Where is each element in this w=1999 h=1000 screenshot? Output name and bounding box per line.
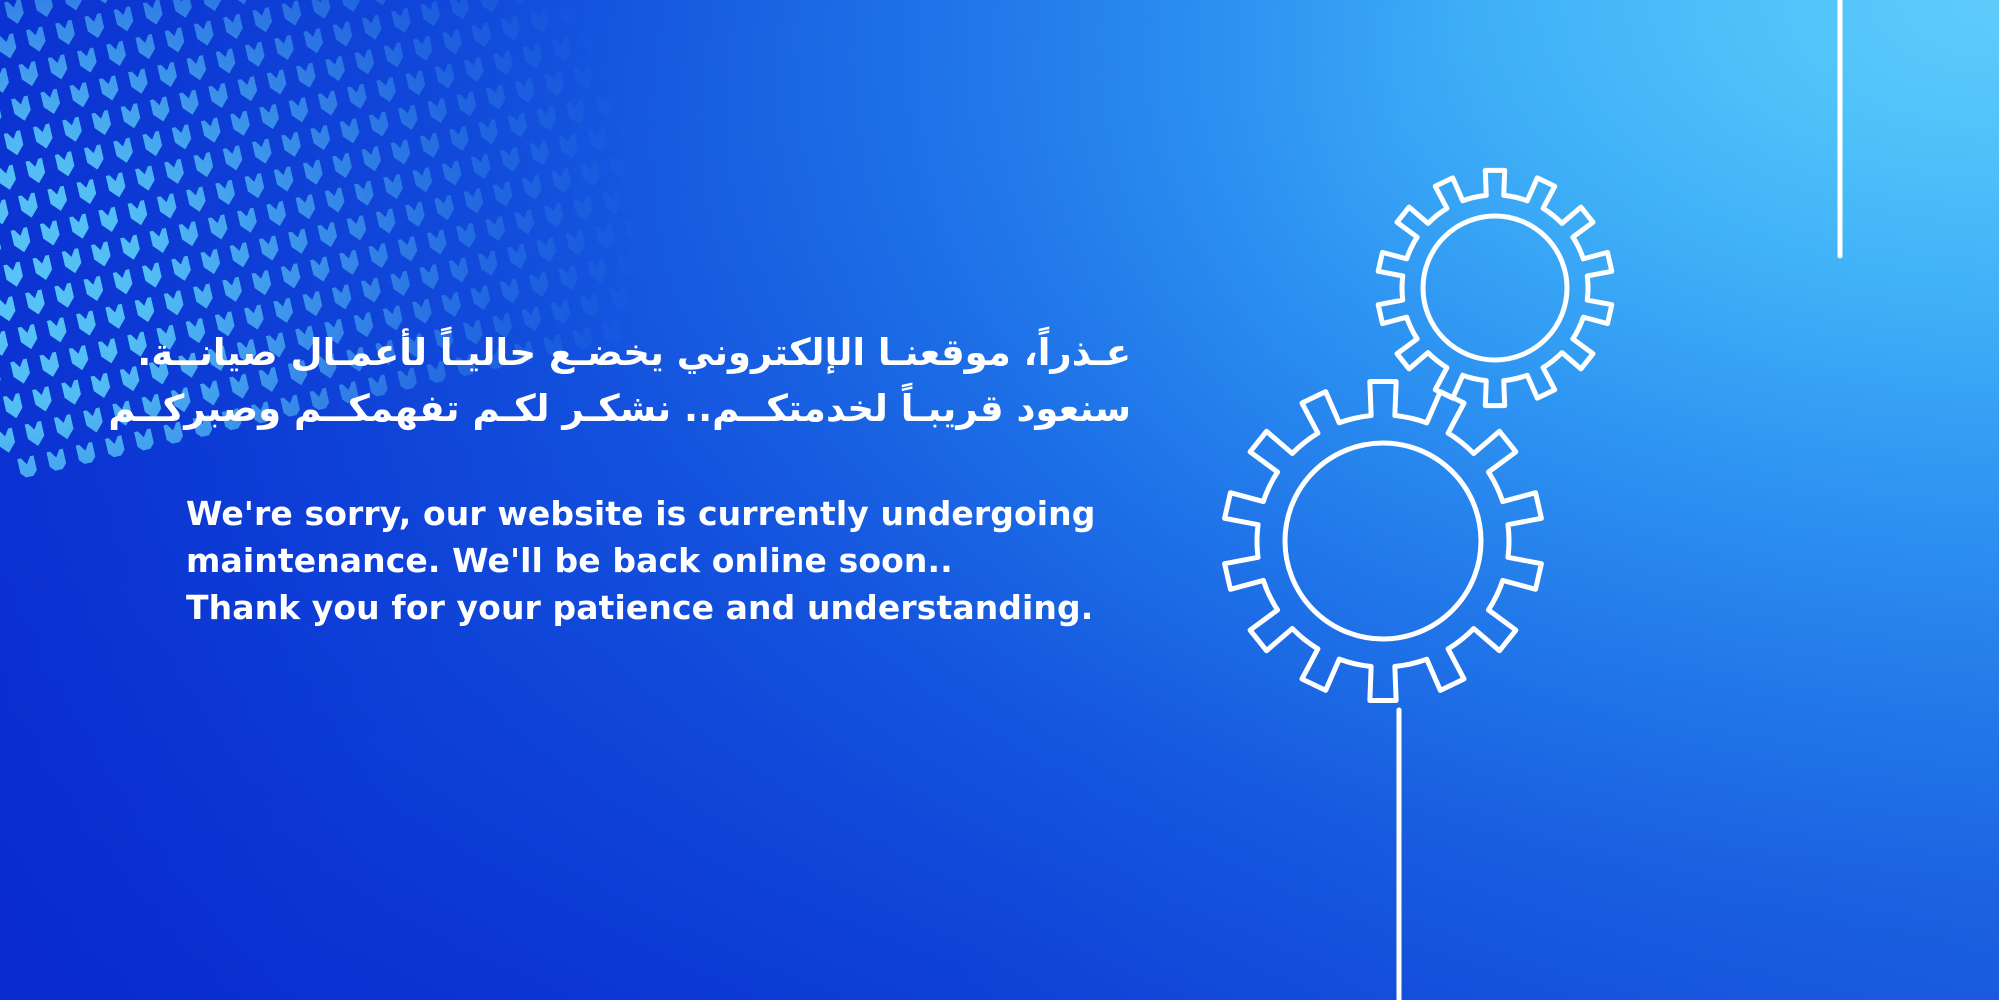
chevron-down-icon (92, 0, 114, 5)
chevron-down-icon (11, 95, 33, 122)
chevron-down-icon (419, 264, 441, 291)
chevron-down-icon (587, 258, 609, 285)
chevron-down-icon (551, 168, 573, 195)
chevron-down-icon (259, 104, 281, 131)
chevron-down-icon (537, 105, 559, 132)
chevron-down-icon (544, 202, 566, 229)
chevron-down-icon (193, 283, 215, 310)
chevron-down-icon (24, 421, 46, 448)
chevron-down-icon (17, 324, 39, 351)
chevron-down-icon (397, 236, 419, 263)
chevron-down-icon (252, 7, 274, 34)
chevron-down-icon (208, 214, 230, 241)
chevron-down-icon (84, 144, 106, 171)
chevron-down-icon (106, 172, 128, 199)
chevron-down-icon (54, 414, 76, 441)
chevron-down-icon (142, 262, 164, 289)
chevron-down-icon (624, 217, 646, 244)
chevron-down-icon (135, 165, 157, 192)
chevron-down-icon (354, 180, 376, 207)
chevron-down-icon (369, 0, 391, 7)
chevron-down-icon (552, 36, 574, 63)
chevron-down-icon (273, 298, 295, 325)
chevron-down-icon (682, 203, 704, 230)
english-message: We're sorry, our website is currently un… (186, 491, 1186, 632)
chevron-down-icon (639, 148, 661, 175)
chevron-down-icon (105, 304, 127, 331)
chevron-down-icon (222, 277, 244, 304)
chevron-down-icon (668, 141, 690, 168)
chevron-down-icon (288, 229, 310, 256)
chevron-down-icon (201, 117, 223, 144)
chevron-down-icon (252, 138, 274, 165)
chevron-down-icon (646, 113, 668, 140)
chevron-down-icon (478, 250, 500, 277)
chevron-down-icon (18, 192, 40, 219)
chevron-down-icon (62, 116, 84, 143)
chevron-down-icon (573, 64, 595, 91)
chevron-down-icon (530, 9, 552, 36)
chevron-down-icon (142, 131, 164, 158)
chevron-down-icon (201, 0, 223, 13)
chevron-down-icon (332, 21, 354, 48)
chevron-down-icon (339, 250, 361, 277)
chevron-down-icon (500, 278, 522, 305)
chevron-down-icon (230, 111, 252, 138)
chevron-down-icon (0, 199, 11, 226)
chevron-down-icon (77, 47, 99, 74)
chevron-down-icon (405, 202, 427, 229)
chevron-down-icon (573, 196, 595, 223)
chevron-down-icon (83, 276, 105, 303)
chevron-down-icon (267, 69, 289, 96)
chevron-down-icon (164, 159, 186, 186)
chevron-down-icon (295, 194, 317, 221)
chevron-down-icon (595, 92, 617, 119)
chevron-down-icon (690, 169, 712, 196)
chevron-down-icon (449, 257, 471, 284)
chevron-down-icon (536, 237, 558, 264)
chevron-down-icon (508, 0, 530, 8)
chevron-down-icon (581, 30, 603, 57)
chevron-down-icon (3, 261, 25, 288)
chevron-down-icon (91, 241, 113, 268)
chevron-down-icon (54, 283, 76, 310)
chevron-down-icon (617, 251, 639, 278)
chevron-down-icon (55, 20, 77, 47)
chevron-down-icon (646, 244, 668, 271)
chevron-down-icon (427, 229, 449, 256)
chevron-down-icon (223, 145, 245, 172)
maintenance-page: عـذراً، موقعنـا الإلكتروني يخضـع حاليـاً… (0, 0, 1999, 1000)
chevron-down-icon (486, 84, 508, 111)
chevron-down-icon (638, 279, 660, 306)
chevron-down-icon (507, 112, 529, 139)
chevron-down-icon (340, 0, 362, 14)
chevron-down-icon (4, 130, 26, 157)
arabic-line-1: عـذراً، موقعنـا الإلكتروني يخضـع حاليـاً… (186, 325, 1131, 381)
chevron-down-icon (609, 286, 631, 313)
chevron-down-icon (391, 139, 413, 166)
chevron-down-icon (62, 0, 84, 12)
chevron-down-icon (0, 234, 3, 261)
chevron-down-icon (4, 0, 26, 26)
chevron-down-icon (274, 35, 296, 62)
chevron-down-icon (288, 97, 310, 124)
chevron-down-icon (310, 256, 332, 283)
chevron-down-icon (654, 78, 676, 105)
chevron-down-icon (412, 167, 434, 194)
chevron-down-icon (449, 126, 471, 153)
chevron-down-icon (376, 208, 398, 235)
chevron-down-icon (76, 179, 98, 206)
chevron-down-icon (91, 110, 113, 137)
chevron-down-icon (61, 379, 83, 406)
chevron-down-icon (434, 195, 456, 222)
chevron-down-icon (420, 1, 442, 28)
chevron-down-icon (0, 165, 18, 192)
chevron-down-icon (143, 0, 165, 27)
chevron-down-icon (697, 266, 719, 293)
chevron-down-icon (704, 231, 726, 258)
chevron-down-icon (193, 152, 215, 179)
chevron-down-icon (194, 20, 216, 47)
arabic-line-2: سنعود قريبـاً لخدمتكــم.. نشكـر لكـم تفه… (186, 381, 1131, 437)
chevron-down-icon (463, 188, 485, 215)
chevron-down-icon (106, 41, 128, 68)
chevron-down-icon (435, 63, 457, 90)
chevron-down-icon (376, 77, 398, 104)
chevron-down-icon (98, 207, 120, 234)
chevron-down-icon (259, 235, 281, 262)
chevron-down-icon (610, 23, 632, 50)
chevron-down-icon (610, 154, 632, 181)
chevron-down-icon (442, 160, 464, 187)
chevron-down-icon (18, 61, 40, 88)
chevron-down-icon (127, 200, 149, 227)
chevron-down-icon (120, 103, 142, 130)
english-line-3: Thank you for your patience and understa… (186, 585, 1186, 632)
chevron-down-icon (128, 68, 150, 95)
chevron-down-icon (471, 153, 493, 180)
chevron-down-icon (493, 181, 515, 208)
chevron-down-icon (62, 248, 84, 275)
chevron-down-icon (412, 298, 434, 325)
chevron-down-icon (653, 210, 675, 237)
chevron-down-icon (150, 96, 172, 123)
chevron-down-icon (566, 99, 588, 126)
chevron-down-icon (3, 393, 25, 420)
chevron-down-icon (588, 0, 610, 22)
chevron-down-icon (0, 365, 3, 392)
chevron-down-icon (514, 209, 536, 236)
chevron-down-icon (346, 215, 368, 242)
chevron-down-icon (215, 180, 237, 207)
chevron-down-icon (464, 57, 486, 84)
chevron-down-icon (25, 289, 47, 316)
chevron-down-icon (32, 386, 54, 413)
chevron-down-icon (478, 119, 500, 146)
chevron-down-icon (302, 291, 324, 318)
chevron-down-icon (165, 27, 187, 54)
chevron-down-icon (588, 126, 610, 153)
chevron-down-icon (310, 125, 332, 152)
chevron-down-icon (405, 70, 427, 97)
chevron-down-icon (632, 51, 654, 78)
chevron-down-icon (500, 15, 522, 42)
english-line-2: maintenance. We'll be back online soon.. (186, 538, 1186, 585)
chevron-down-icon (369, 111, 391, 138)
chevron-down-icon (0, 427, 17, 454)
chevron-down-icon (281, 0, 303, 27)
chevron-down-icon (544, 71, 566, 98)
chevron-down-icon (39, 352, 61, 379)
chevron-down-icon (83, 407, 105, 434)
chevron-down-icon (0, 68, 11, 95)
chevron-down-icon (223, 14, 245, 41)
chevron-down-icon (245, 41, 267, 68)
chevron-down-icon (113, 6, 135, 33)
chevron-down-icon (200, 249, 222, 276)
chevron-down-icon (230, 242, 252, 269)
chevron-down-icon (362, 14, 384, 41)
chevron-down-icon (311, 0, 333, 21)
english-line-1: We're sorry, our website is currently un… (186, 491, 1186, 538)
chevron-down-icon (230, 0, 252, 6)
chevron-down-icon (390, 271, 412, 298)
chevron-down-icon (149, 228, 171, 255)
chevron-down-icon (661, 44, 683, 71)
chevron-down-icon (98, 338, 120, 365)
chevron-down-icon (208, 83, 230, 110)
arabic-message: عـذراً، موقعنـا الإلكتروني يخضـع حاليـاً… (186, 325, 1131, 437)
chevron-down-icon (47, 186, 69, 213)
maintenance-message: عـذراً، موقعنـا الإلكتروني يخضـع حاليـاً… (186, 325, 1186, 632)
chevron-down-icon (515, 78, 537, 105)
chevron-down-icon (420, 132, 442, 159)
chevron-down-icon (522, 175, 544, 202)
chevron-down-icon (471, 22, 493, 49)
chevron-down-icon (172, 0, 194, 20)
chevron-down-icon (69, 213, 91, 240)
chevron-down-icon (580, 161, 602, 188)
chevron-down-icon (522, 43, 544, 70)
chevron-down-icon (565, 230, 587, 257)
chevron-down-icon (237, 207, 259, 234)
chevron-down-icon (493, 50, 515, 77)
chevron-down-icon (244, 173, 266, 200)
chevron-down-icon (647, 0, 669, 9)
chevron-down-icon (25, 158, 47, 185)
chevron-down-icon (383, 174, 405, 201)
chevron-down-icon (361, 146, 383, 173)
chevron-down-icon (157, 62, 179, 89)
chevron-down-icon (427, 98, 449, 125)
chevron-down-icon (529, 140, 551, 167)
chevron-down-icon (157, 193, 179, 220)
chevron-down-icon (237, 76, 259, 103)
chevron-down-icon (456, 223, 478, 250)
chevron-down-icon (675, 238, 697, 265)
chevron-down-icon (442, 29, 464, 56)
chevron-down-icon (296, 63, 318, 90)
chevron-down-icon (281, 263, 303, 290)
chevron-down-icon (361, 277, 383, 304)
chevron-down-icon (325, 187, 347, 214)
chevron-down-icon (216, 48, 238, 75)
chevron-down-icon (113, 269, 135, 296)
chevron-down-icon (332, 284, 354, 311)
chevron-down-icon (413, 36, 435, 63)
chevron-down-icon (47, 317, 69, 344)
chevron-down-icon (485, 216, 507, 243)
chevron-down-icon (135, 34, 157, 61)
chevron-down-icon (558, 133, 580, 160)
chevron-down-icon (0, 33, 19, 60)
chevron-down-icon (317, 222, 339, 249)
chevron-down-icon (602, 189, 624, 216)
chevron-down-icon (10, 358, 32, 385)
chevron-down-icon (26, 26, 48, 53)
chevron-down-icon (384, 42, 406, 69)
chevron-down-icon (617, 0, 639, 15)
chevron-down-icon (179, 89, 201, 116)
chevron-down-icon (186, 186, 208, 213)
chevron-down-icon (580, 293, 602, 320)
chevron-down-icon (178, 221, 200, 248)
chevron-down-icon (479, 0, 501, 15)
chevron-down-icon (11, 227, 33, 254)
chevron-down-icon (186, 55, 208, 82)
chevron-down-icon (449, 0, 471, 21)
chevron-down-icon (500, 147, 522, 174)
chevron-down-icon (84, 13, 106, 40)
chevron-down-icon (595, 223, 617, 250)
chevron-down-icon (171, 256, 193, 283)
chevron-down-icon (69, 345, 91, 372)
chevron-down-icon (99, 75, 121, 102)
chevron-down-icon (0, 331, 10, 358)
chevron-down-icon (251, 270, 273, 297)
chevron-down-icon (69, 82, 91, 109)
chevron-down-icon (0, 102, 4, 129)
chevron-down-icon (558, 265, 580, 292)
chevron-down-icon (675, 106, 697, 133)
chevron-down-icon (55, 151, 77, 178)
chevron-down-icon (40, 89, 62, 116)
chevron-down-icon (559, 2, 581, 29)
chevron-down-icon (631, 182, 653, 209)
chevron-down-icon (134, 297, 156, 324)
chevron-down-icon (172, 124, 194, 151)
chevron-down-icon (33, 0, 55, 19)
chevron-down-icon (164, 290, 186, 317)
chevron-down-icon (529, 271, 551, 298)
chevron-down-icon (120, 234, 142, 261)
chevron-down-icon (441, 292, 463, 319)
chevron-down-icon (33, 123, 55, 150)
chevron-down-icon (32, 255, 54, 282)
chevron-down-icon (624, 85, 646, 112)
chevron-down-icon (456, 91, 478, 118)
chevron-down-icon (48, 54, 70, 81)
chevron-down-icon (303, 28, 325, 55)
chevron-down-icon (617, 120, 639, 147)
chevron-down-icon (113, 138, 135, 165)
chevron-down-icon (551, 299, 573, 326)
chevron-down-icon (537, 0, 559, 1)
chevron-down-icon (76, 310, 98, 337)
chevron-down-icon (668, 272, 690, 299)
chevron-down-icon (639, 16, 661, 43)
chevron-down-icon (325, 56, 347, 83)
chevron-down-icon (303, 159, 325, 186)
chevron-down-icon (398, 105, 420, 132)
chevron-down-icon (339, 118, 361, 145)
chevron-down-icon (318, 90, 340, 117)
chevron-down-icon (40, 220, 62, 247)
chevron-down-icon (507, 244, 529, 271)
chevron-down-icon (281, 132, 303, 159)
chevron-down-icon (354, 49, 376, 76)
chevron-down-icon (0, 296, 18, 323)
chevron-down-icon (274, 166, 296, 193)
chevron-down-icon (347, 84, 369, 111)
chevron-down-icon (603, 57, 625, 84)
chevron-down-icon (332, 153, 354, 180)
chevron-down-icon (661, 175, 683, 202)
chevron-down-icon (391, 8, 413, 35)
chevron-down-icon (368, 243, 390, 270)
chevron-down-icon (266, 201, 288, 228)
chevron-down-icon (470, 285, 492, 312)
